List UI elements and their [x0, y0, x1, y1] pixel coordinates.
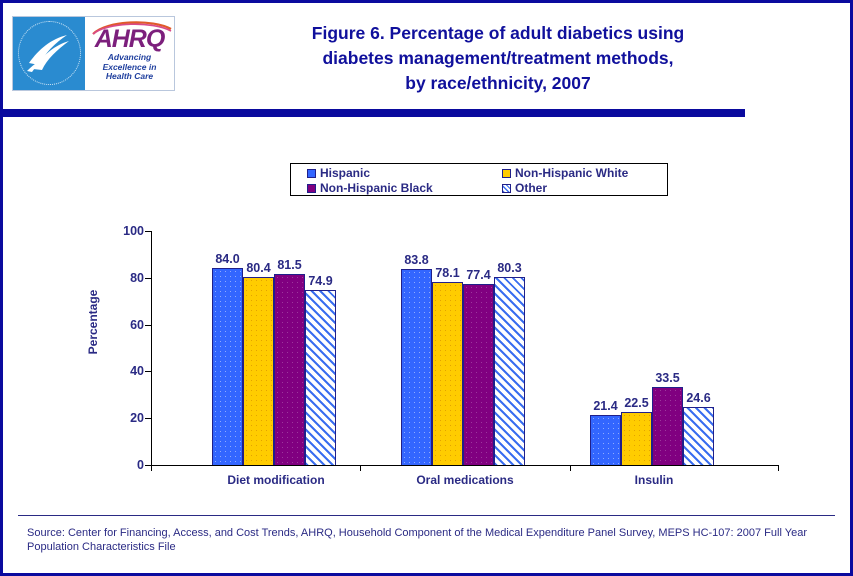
bar[interactable]: 81.5: [274, 274, 305, 465]
legend-label-non-hispanic-white: Non-Hispanic White: [515, 167, 628, 180]
x-axis-tick-mark: [151, 465, 152, 471]
ahrq-arc-icon: [91, 19, 173, 35]
bar-value-label: 80.3: [497, 261, 521, 275]
source-divider: [18, 515, 835, 516]
bar-value-label: 33.5: [655, 371, 679, 385]
bar-value-label: 74.9: [308, 274, 332, 288]
ahrq-tagline: Advancing Excellence in Health Care: [85, 53, 174, 82]
x-axis-category-label: Diet modification: [212, 473, 340, 487]
y-axis-tick-mark: [145, 278, 151, 279]
legend-label-other: Other: [515, 182, 547, 195]
bar-value-label: 80.4: [246, 261, 270, 275]
bar-value-label: 24.6: [686, 391, 710, 405]
legend-label-hispanic: Hispanic: [320, 167, 370, 180]
header-divider-rule: [3, 109, 745, 117]
legend-item-other: Other: [502, 181, 628, 195]
bar[interactable]: 77.4: [463, 284, 494, 465]
legend-swatch-non-hispanic-white: [502, 169, 511, 178]
hhs-seal-icon: [13, 17, 85, 90]
bar[interactable]: 78.1: [432, 282, 463, 465]
bar-group: 21.422.533.524.6: [590, 231, 718, 465]
bar[interactable]: 80.4: [243, 277, 274, 465]
legend-item-hispanic: Hispanic: [307, 166, 433, 180]
x-axis-tick-mark: [778, 465, 779, 471]
bar[interactable]: 84.0: [212, 268, 243, 465]
bar-group: 84.080.481.574.9: [212, 231, 340, 465]
x-axis-tick-mark: [360, 465, 361, 471]
y-axis-tick-mark: [145, 371, 151, 372]
figure-title-line-1: Figure 6. Percentage of adult diabetics …: [188, 21, 808, 46]
bar[interactable]: 80.3: [494, 277, 525, 465]
legend-swatch-hispanic: [307, 169, 316, 178]
y-axis-tick-label: 100: [108, 226, 144, 236]
bar-value-label: 81.5: [277, 258, 301, 272]
source-note: Source: Center for Financing, Access, an…: [27, 526, 837, 554]
chart-plot-area: 02040608010084.080.481.574.9Diet modific…: [151, 231, 779, 465]
bar-group-bars: 21.422.533.524.6: [590, 231, 714, 465]
x-axis-tick-mark: [570, 465, 571, 471]
bar-value-label: 83.8: [404, 253, 428, 267]
x-axis-line: [151, 465, 779, 466]
legend-label-non-hispanic-black: Non-Hispanic Black: [320, 182, 433, 195]
figure-title-line-3: by race/ethnicity, 2007: [188, 71, 808, 96]
y-axis-tick-mark: [145, 418, 151, 419]
x-axis-category-label: Insulin: [590, 473, 718, 487]
y-axis-tick-mark: [145, 231, 151, 232]
figure-title-line-2: diabetes management/treatment methods,: [188, 46, 808, 71]
bar-group: 83.878.177.480.3: [401, 231, 529, 465]
ahrq-logo: AHRQ Advancing Excellence in Health Care: [12, 16, 175, 91]
legend-item-non-hispanic-white: Non-Hispanic White: [502, 166, 628, 180]
bar-value-label: 77.4: [466, 268, 490, 282]
bar[interactable]: 21.4: [590, 415, 621, 465]
bar[interactable]: 33.5: [652, 387, 683, 465]
bar-value-label: 84.0: [215, 252, 239, 266]
bar[interactable]: 22.5: [621, 412, 652, 465]
x-axis-category-label: Oral medications: [401, 473, 529, 487]
legend-swatch-other: [502, 184, 511, 193]
bar-value-label: 21.4: [593, 399, 617, 413]
bar-value-label: 78.1: [435, 266, 459, 280]
bar-value-label: 22.5: [624, 396, 648, 410]
y-axis-tick-mark: [145, 325, 151, 326]
bar[interactable]: 24.6: [683, 407, 714, 465]
y-axis-tick-label: 40: [108, 366, 144, 376]
bar-group-bars: 84.080.481.574.9: [212, 231, 336, 465]
bar-group-bars: 83.878.177.480.3: [401, 231, 525, 465]
y-axis-tick-label: 0: [108, 460, 144, 470]
y-axis-tick-label: 80: [108, 273, 144, 283]
legend-column-left: Hispanic Non-Hispanic Black: [307, 166, 433, 196]
y-axis-tick-label: 60: [108, 320, 144, 330]
y-axis-tick-label: 20: [108, 413, 144, 423]
legend-swatch-non-hispanic-black: [307, 184, 316, 193]
header: AHRQ Advancing Excellence in Health Care…: [3, 3, 850, 103]
ahrq-tagline-line-3: Health Care: [85, 72, 174, 82]
y-axis-label: Percentage: [86, 282, 104, 362]
legend-item-non-hispanic-black: Non-Hispanic Black: [307, 181, 433, 195]
legend-column-right: Non-Hispanic White Other: [502, 166, 628, 196]
y-axis-line: [151, 231, 152, 465]
figure-title: Figure 6. Percentage of adult diabetics …: [188, 21, 808, 96]
chart-legend: Hispanic Non-Hispanic Black Non-Hispanic…: [290, 163, 668, 196]
ahrq-wordmark: AHRQ Advancing Excellence in Health Care: [85, 17, 174, 90]
bar[interactable]: 74.9: [305, 290, 336, 465]
bar[interactable]: 83.8: [401, 269, 432, 465]
hhs-bird-icon: [25, 33, 73, 73]
figure-page: AHRQ Advancing Excellence in Health Care…: [0, 0, 853, 576]
